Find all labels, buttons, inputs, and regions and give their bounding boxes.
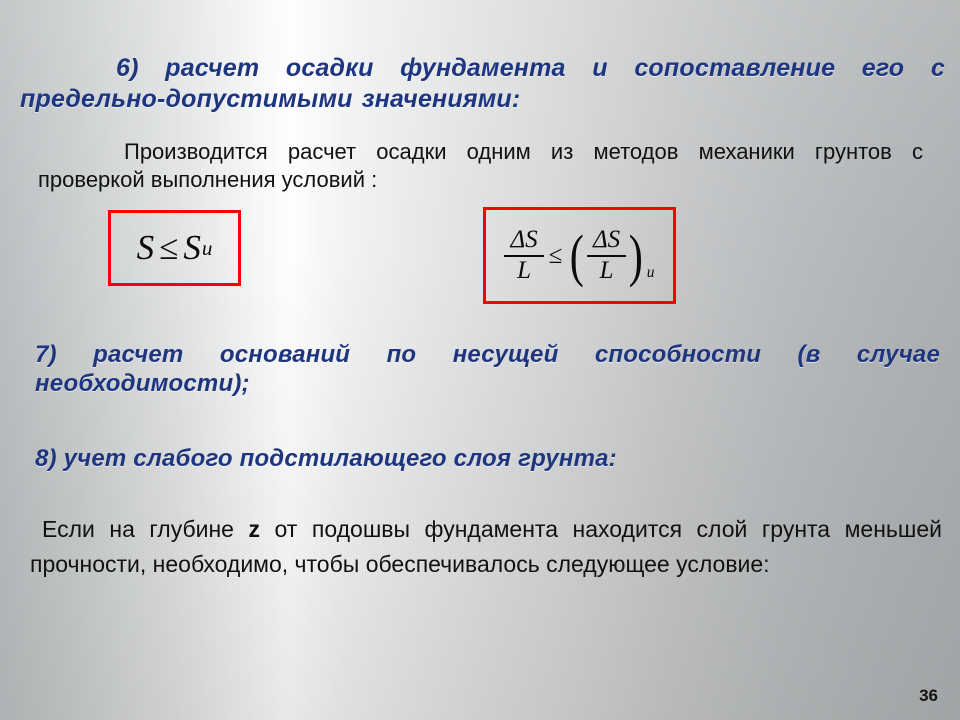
formula-2-rhs-group: ( ΔS L ) u — [567, 227, 654, 284]
formula-1-lhs: S — [137, 228, 155, 268]
heading-item-6: 6) расчет осадки фундамента и сопоставле… — [20, 53, 945, 114]
formula-1-rhs-base: S — [183, 228, 201, 268]
formula-2-lhs-denominator: L — [504, 255, 543, 284]
formula-box-settlement-limit: S ≤ Su — [108, 210, 241, 286]
formula-1-rhs-subscript: u — [201, 236, 213, 261]
heading-item-8: 8) учет слабого подстилающего слоя грунт… — [35, 444, 940, 473]
paragraph-weak-layer-emphasis-z: z — [249, 516, 261, 542]
paragraph-settlement-calculation: Производится расчет осадки одним из мето… — [38, 138, 923, 194]
formula-2-lhs-fraction: ΔS L — [504, 227, 543, 284]
formula-1-relation: ≤ — [154, 228, 183, 268]
slide-canvas: 6) расчет осадки фундамента и сопоставле… — [0, 0, 960, 720]
formula-2-lhs-numerator: ΔS — [504, 227, 543, 254]
slide-content: 6) расчет осадки фундамента и сопоставле… — [0, 0, 960, 720]
formula-2-relation: ≤ — [544, 242, 568, 270]
formula-2-paren-close: ) — [629, 233, 643, 279]
formula-2-rhs-numerator: ΔS — [587, 227, 626, 254]
formula-1-expression: S ≤ Su — [137, 228, 213, 268]
formula-2-paren-open: ( — [570, 233, 584, 279]
slide-number: 36 — [919, 686, 938, 706]
formula-box-relative-settlement-limit: ΔS L ≤ ( ΔS L ) u — [483, 207, 676, 304]
formula-2-rhs-denominator: L — [587, 255, 626, 284]
formula-2-expression: ΔS L ≤ ( ΔS L ) u — [504, 227, 654, 284]
formula-2-rhs-fraction: ΔS L — [587, 227, 626, 284]
paragraph-weak-underlying-layer: Если на глубине z от подошвы фундамента … — [30, 512, 942, 582]
paragraph-weak-layer-part-1: Если на глубине — [42, 516, 249, 542]
formula-2-rhs-subscript: u — [646, 264, 655, 284]
heading-item-7: 7) расчет оснований по несущей способнос… — [35, 340, 940, 399]
